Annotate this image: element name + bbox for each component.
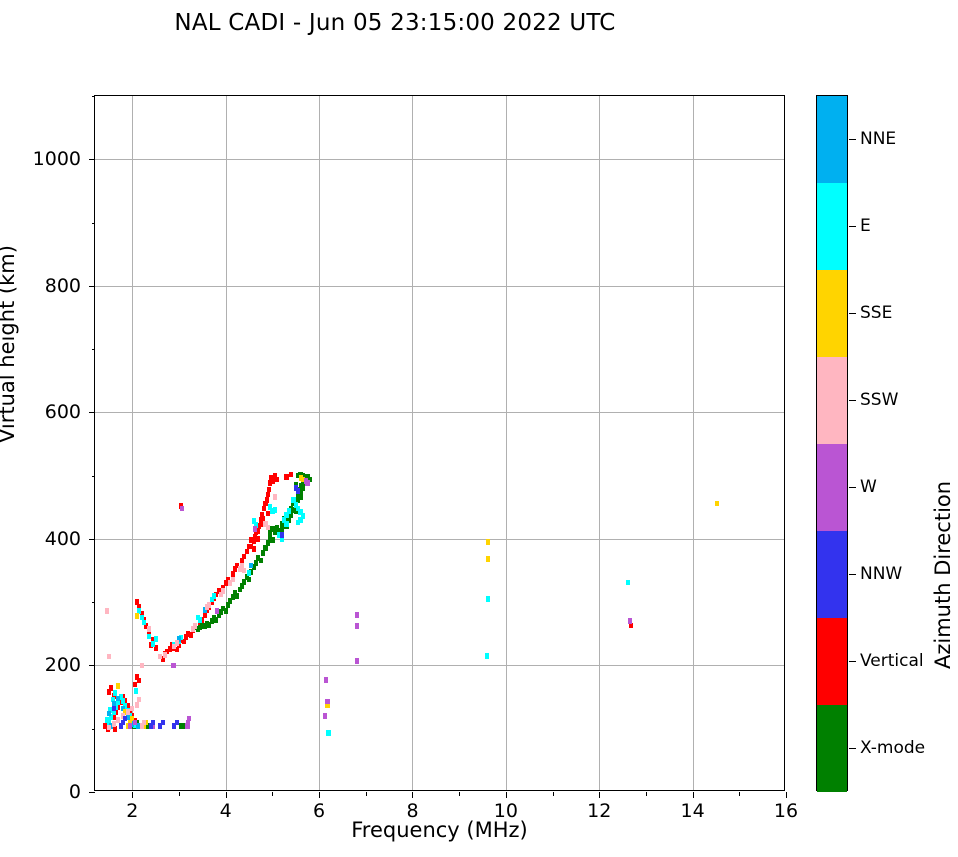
data-point-ssw: [105, 608, 109, 614]
data-point-w: [133, 720, 137, 726]
data-point-ssw: [140, 663, 144, 669]
colorbar-segment-nnw: [817, 531, 847, 618]
y-tick: [89, 665, 95, 666]
data-point-e: [142, 620, 146, 626]
data-point-sse: [116, 683, 120, 689]
data-point-ssw: [135, 702, 139, 708]
x-tick: [319, 792, 320, 798]
y-tick-label: 0: [69, 781, 81, 803]
data-point-nnw: [123, 716, 127, 722]
data-point-w: [324, 677, 328, 683]
data-point-ssw: [116, 717, 120, 723]
data-point-w: [323, 713, 327, 719]
data-point-ssw: [163, 652, 167, 658]
data-point-w: [355, 658, 359, 664]
data-point-e: [273, 507, 277, 513]
data-point-e: [326, 730, 330, 736]
data-point-ssw: [107, 654, 111, 660]
colorbar-segment-x-mode: [817, 705, 847, 792]
data-point-x-mode: [263, 545, 267, 551]
colorbar-label-nnw: NNW: [860, 564, 902, 584]
data-point-w: [305, 480, 309, 486]
gridline-vertical: [412, 96, 413, 790]
x-minor-tick: [739, 792, 740, 796]
y-tick-label: 1000: [33, 148, 81, 170]
plot-frame: 24681012141602004006008001000: [94, 95, 785, 791]
data-point-nne: [107, 711, 111, 717]
gridline-horizontal: [95, 286, 784, 287]
data-point-vertical: [242, 554, 246, 560]
colorbar-tick: [849, 400, 856, 401]
data-point-e: [147, 634, 151, 640]
colorbar-label-x-mode: X-mode: [860, 738, 925, 758]
data-point-nnw: [280, 532, 284, 538]
x-tick: [132, 792, 133, 798]
data-point-vertical: [256, 528, 260, 534]
colorbar-tick: [849, 661, 856, 662]
colorbar-segment-vertical: [817, 618, 847, 705]
colorbar-label-sse: SSE: [860, 303, 892, 323]
x-minor-tick: [553, 792, 554, 796]
x-minor-tick: [366, 792, 367, 796]
plot-canvas: [95, 96, 784, 790]
y-tick: [89, 539, 95, 540]
data-point-ssw: [207, 602, 211, 608]
colorbar-tick: [849, 487, 856, 488]
data-point-x-mode: [270, 526, 274, 532]
data-point-vertical: [133, 682, 137, 688]
data-point-w: [180, 506, 184, 512]
data-point-x-mode: [261, 550, 265, 556]
gridline-horizontal: [95, 159, 784, 160]
data-point-e: [134, 688, 138, 694]
colorbar-label-nne: NNE: [860, 129, 896, 149]
colorbar-label-w: W: [860, 477, 877, 497]
y-tick-label: 200: [45, 654, 81, 676]
data-point-e: [105, 717, 109, 723]
data-point-x-mode: [259, 558, 263, 564]
data-point-vertical: [252, 546, 256, 552]
data-point-vertical: [270, 478, 274, 484]
y-minor-tick: [92, 96, 96, 97]
data-point-e: [198, 617, 202, 623]
data-point-vertical: [256, 536, 260, 542]
x-tick: [412, 792, 413, 798]
data-point-nne: [116, 696, 120, 702]
data-point-x-mode: [301, 485, 305, 491]
data-point-w: [325, 699, 329, 705]
data-point-ssw: [193, 623, 197, 629]
colorbar: [816, 95, 848, 791]
data-point-ssw: [147, 626, 151, 632]
data-point-e: [284, 521, 288, 527]
y-minor-tick: [92, 223, 96, 224]
data-point-x-mode: [270, 537, 274, 543]
gridline-horizontal: [95, 539, 784, 540]
data-point-vertical: [137, 678, 141, 684]
data-point-x-mode: [254, 560, 258, 566]
data-point-vertical: [168, 646, 172, 652]
y-minor-tick: [92, 602, 96, 603]
data-point-sse: [715, 501, 719, 507]
data-point-nnw: [296, 488, 300, 494]
data-point-nnw: [175, 720, 179, 726]
data-point-vertical: [135, 599, 139, 605]
x-minor-tick: [459, 792, 460, 796]
data-point-x-mode: [298, 494, 302, 500]
y-tick: [89, 412, 95, 413]
colorbar-label-e: E: [860, 216, 871, 236]
colorbar-tick: [849, 226, 856, 227]
data-point-x-mode: [224, 608, 228, 614]
y-tick-label: 800: [45, 275, 81, 297]
data-point-ssw: [242, 568, 246, 574]
data-point-vertical: [267, 487, 271, 493]
colorbar-segment-sse: [817, 270, 847, 357]
y-tick-label: 400: [45, 528, 81, 550]
data-point-vertical: [245, 549, 249, 555]
data-point-e: [626, 580, 630, 586]
data-point-ssw: [107, 725, 111, 731]
x-minor-tick: [179, 792, 180, 796]
data-point-e: [287, 508, 291, 514]
data-point-e: [154, 636, 158, 642]
colorbar-tick: [849, 574, 856, 575]
data-point-nnw: [112, 706, 116, 712]
data-point-x-mode: [198, 625, 202, 631]
gridline-vertical: [226, 96, 227, 790]
data-point-vertical: [203, 612, 207, 618]
data-point-x-mode: [214, 617, 218, 623]
y-tick: [89, 792, 95, 793]
data-point-w: [215, 608, 219, 614]
gridline-horizontal: [95, 412, 784, 413]
y-minor-tick: [92, 729, 96, 730]
data-point-ssw: [142, 720, 146, 726]
x-axis-title: Frequency (MHz): [94, 818, 785, 842]
data-point-x-mode: [266, 540, 270, 546]
data-point-ssw: [221, 588, 225, 594]
data-point-w: [253, 526, 257, 532]
data-point-vertical: [189, 632, 193, 638]
data-point-vertical: [265, 497, 269, 503]
data-point-ssw: [112, 721, 116, 727]
data-point-ssw: [273, 494, 277, 500]
x-tick: [599, 792, 600, 798]
data-point-e: [247, 570, 251, 576]
y-tick: [89, 159, 95, 160]
data-point-ssw: [130, 706, 134, 712]
colorbar-segment-ssw: [817, 357, 847, 444]
gridline-vertical: [693, 96, 694, 790]
y-minor-tick: [92, 349, 96, 350]
colorbar-label-vertical: Vertical: [860, 651, 924, 671]
gridline-vertical: [599, 96, 600, 790]
data-point-w: [128, 723, 132, 729]
data-point-w: [187, 716, 191, 722]
colorbar-segment-nne: [817, 96, 847, 183]
y-minor-tick: [92, 476, 96, 477]
data-point-nnw: [161, 720, 165, 726]
data-point-sse: [486, 539, 490, 545]
y-tick-label: 600: [45, 401, 81, 423]
page-title: NAL CADI - Jun 05 23:15:00 2022 UTC: [0, 10, 790, 36]
colorbar-tick: [849, 313, 856, 314]
gridline-horizontal: [95, 665, 784, 666]
colorbar-tick: [849, 139, 856, 140]
data-point-nne: [249, 563, 253, 569]
x-minor-tick: [646, 792, 647, 796]
data-point-w: [628, 618, 632, 624]
data-point-ssw: [266, 525, 270, 531]
data-point-e: [298, 517, 302, 523]
data-point-e: [485, 653, 489, 659]
data-point-vertical: [266, 492, 270, 498]
y-tick: [89, 286, 95, 287]
data-point-e: [486, 596, 490, 602]
colorbar-label-ssw: SSW: [860, 390, 898, 410]
data-point-w: [355, 612, 359, 618]
data-point-ssw: [175, 640, 179, 646]
data-point-ssw: [158, 654, 162, 660]
data-point-e: [212, 593, 216, 599]
gridline-vertical: [319, 96, 320, 790]
data-point-vertical: [284, 474, 288, 480]
x-tick: [693, 792, 694, 798]
data-point-vertical: [289, 472, 293, 478]
x-tick: [506, 792, 507, 798]
data-point-w: [355, 623, 359, 629]
data-point-x-mode: [247, 577, 251, 583]
gridline-vertical: [506, 96, 507, 790]
data-point-nnw: [151, 720, 155, 726]
y-axis-title: Virtual height (km): [0, 245, 19, 443]
data-point-vertical: [275, 477, 279, 483]
x-tick: [226, 792, 227, 798]
data-point-ssw: [126, 709, 130, 715]
data-point-ssw: [231, 577, 235, 583]
colorbar-segment-w: [817, 444, 847, 531]
data-point-x-mode: [242, 579, 246, 585]
data-point-x-mode: [235, 593, 239, 599]
colorbar-tick: [849, 748, 856, 749]
colorbar-title: Azimuth Direction: [931, 481, 955, 669]
x-tick: [786, 792, 787, 798]
data-point-sse: [486, 556, 490, 562]
x-minor-tick: [272, 792, 273, 796]
colorbar-segment-e: [817, 183, 847, 270]
data-point-w: [171, 663, 175, 669]
data-point-vertical: [266, 511, 270, 517]
data-point-ssw: [137, 697, 141, 703]
data-point-e: [151, 641, 155, 647]
data-point-sse: [135, 613, 139, 619]
